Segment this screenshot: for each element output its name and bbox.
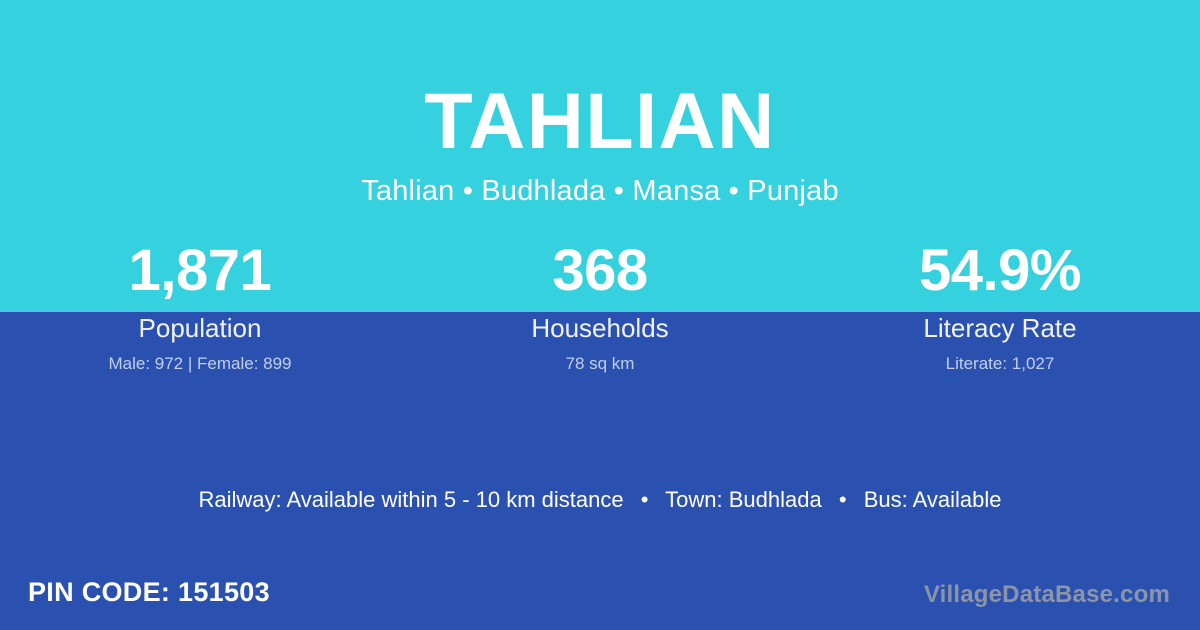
facility-bus: Bus: Available xyxy=(864,487,1002,512)
stat-sublabel: Literate: 1,027 xyxy=(800,353,1200,375)
facility-town: Town: Budhlada xyxy=(665,487,822,512)
stat-sublabel: 78 sq km xyxy=(400,353,800,375)
facilities-line: Railway: Available within 5 - 10 km dist… xyxy=(0,485,1200,515)
card-header: TAHLIAN Tahlian • Budhlada • Mansa • Pun… xyxy=(0,0,1200,209)
facility-railway: Railway: Available within 5 - 10 km dist… xyxy=(198,487,623,512)
location-breadcrumb: Tahlian • Budhlada • Mansa • Punjab xyxy=(0,164,1200,209)
stat-label: Population xyxy=(0,313,400,343)
bullet-separator-icon: • xyxy=(828,485,858,515)
card-footer: PIN CODE: 151503 VillageDataBase.com xyxy=(0,570,1200,630)
brand-watermark: VillageDataBase.com xyxy=(924,580,1170,610)
stat-value: 368 xyxy=(400,240,800,302)
stat-literacy-rate: 54.9% Literacy Rate Literate: 1,027 xyxy=(800,240,1200,375)
stat-label: Households xyxy=(400,313,800,343)
stat-households: 368 Households 78 sq km xyxy=(400,240,800,375)
pin-code: PIN CODE: 151503 xyxy=(28,575,270,609)
bullet-separator-icon: • xyxy=(630,485,660,515)
stat-value: 54.9% xyxy=(800,240,1200,302)
stat-sublabel: Male: 972 | Female: 899 xyxy=(0,353,400,375)
page-title: TAHLIAN xyxy=(0,0,1200,164)
stat-value: 1,871 xyxy=(0,240,400,302)
stats-row: 1,871 Population Male: 972 | Female: 899… xyxy=(0,240,1200,375)
stat-label: Literacy Rate xyxy=(800,313,1200,343)
village-info-card: TAHLIAN Tahlian • Budhlada • Mansa • Pun… xyxy=(0,0,1200,630)
stat-population: 1,871 Population Male: 972 | Female: 899 xyxy=(0,240,400,375)
